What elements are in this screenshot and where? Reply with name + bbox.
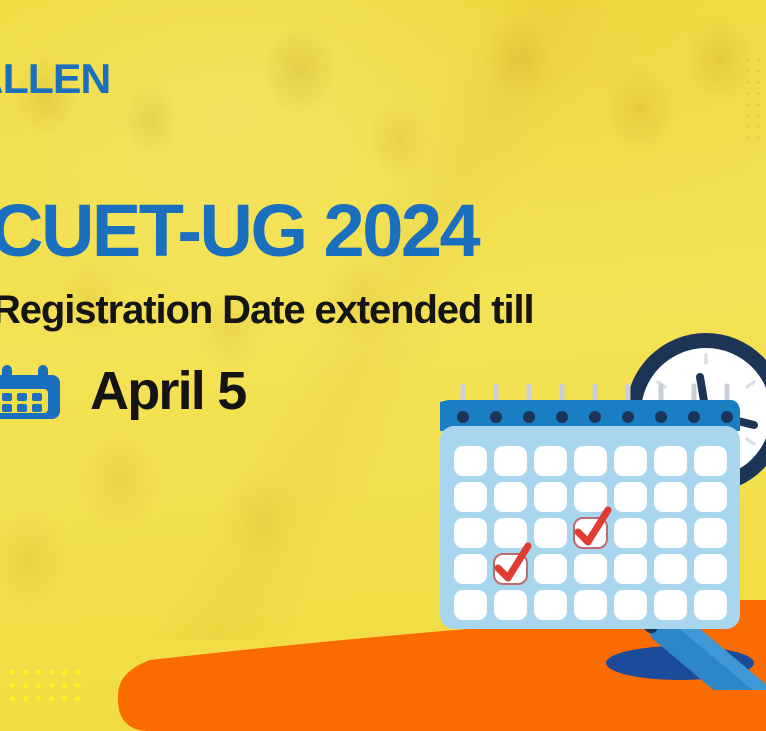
calendar-icon — [0, 355, 68, 427]
page-subtitle: Registration Date extended till — [0, 290, 534, 330]
date-callout: April 5 — [0, 355, 245, 427]
calendar-illustration — [432, 360, 766, 650]
allen-logo-dot — [18, 77, 23, 82]
page-title: CUET-UG 2024 — [0, 194, 478, 268]
promo-banner: ALLEN CUET-UG 2024 Registration Date ext… — [0, 0, 766, 731]
allen-logo[interactable]: ALLEN — [0, 58, 110, 100]
date-value: April 5 — [90, 364, 245, 418]
dot-grid-decoration-bottom-left — [6, 666, 84, 702]
